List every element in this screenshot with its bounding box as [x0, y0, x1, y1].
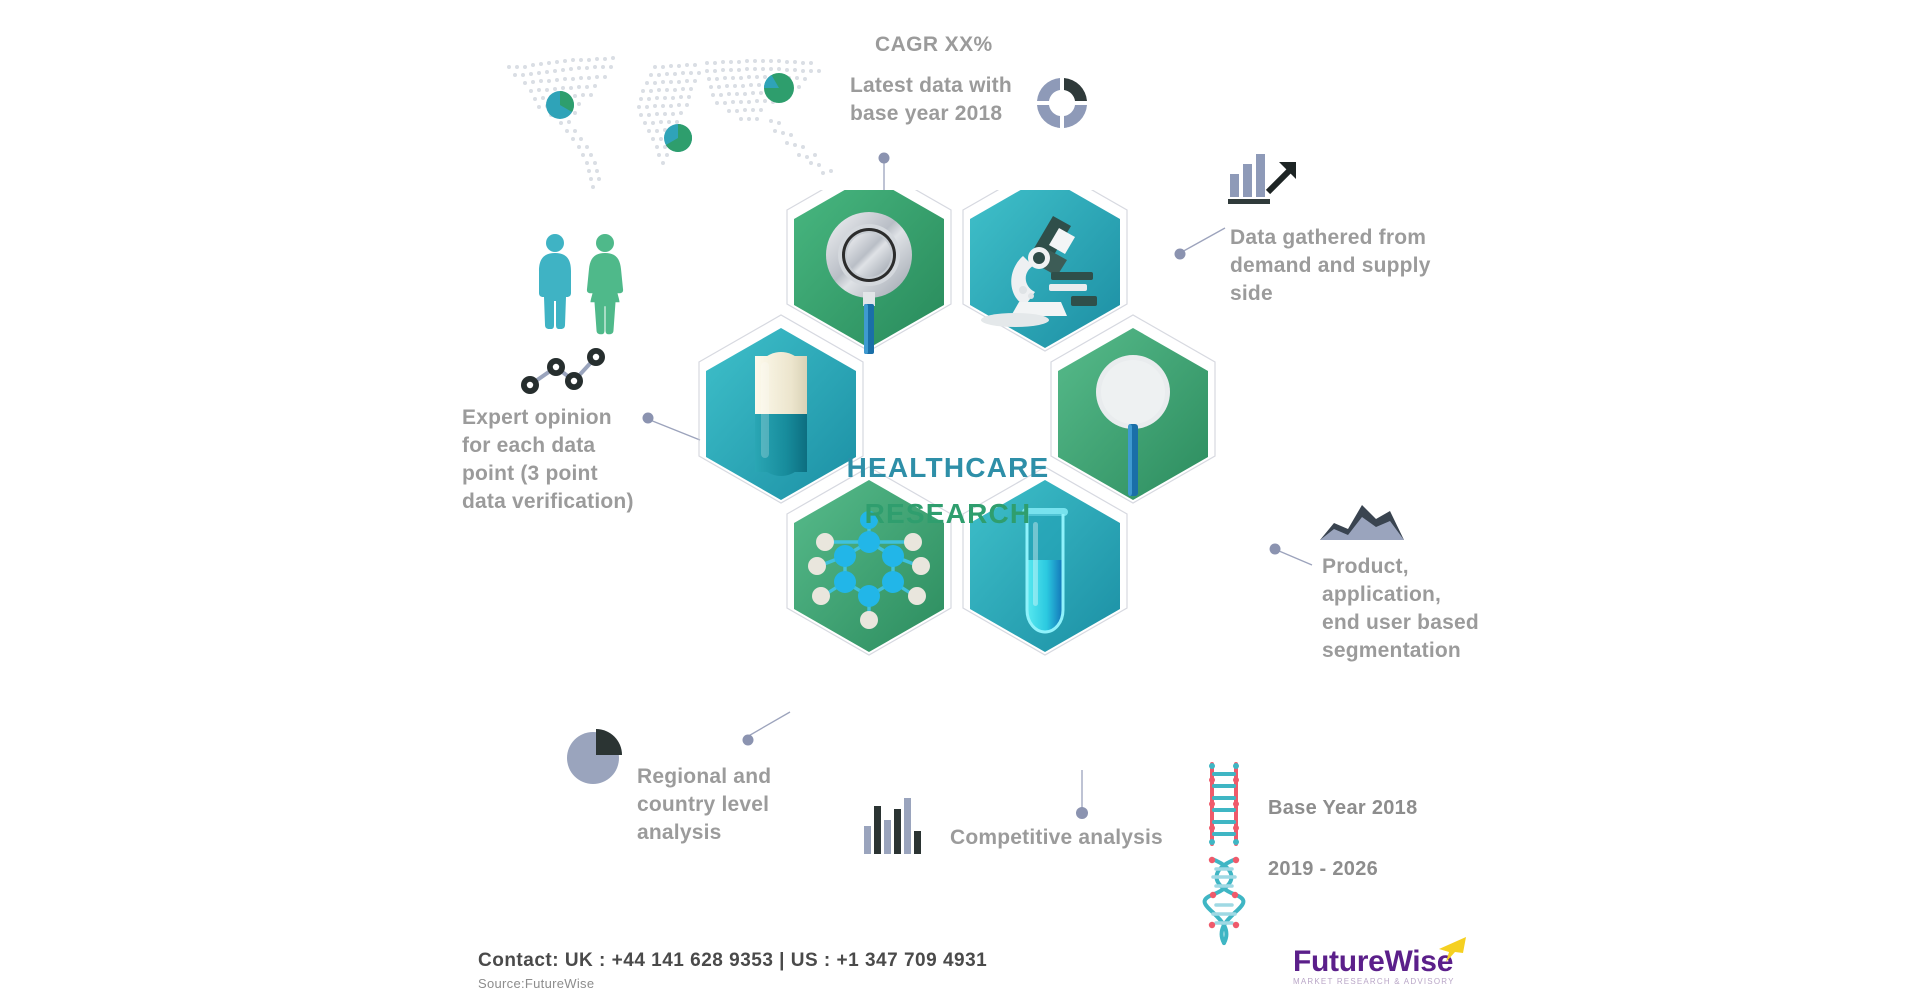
- footer-contact-block: Contact: UK : +44 141 628 9353 | US : +1…: [478, 950, 987, 991]
- area-chart-icon: [1318, 495, 1408, 545]
- expert-opinion-line4: data verification): [462, 488, 692, 516]
- segmentation-line3: end user based: [1322, 609, 1582, 637]
- expert-opinion-line3: point (3 point: [462, 460, 692, 488]
- segmentation-callout: Product, application, end user based seg…: [1322, 553, 1582, 665]
- contact-line: Contact: UK : +44 141 628 9353 | US : +1…: [478, 950, 987, 972]
- source-line: Source:FutureWise: [478, 976, 987, 991]
- center-title-line1: HEALTHCARE: [838, 445, 1058, 491]
- hexagon-microscope: [970, 190, 1120, 348]
- latest-data-line2: base year 2018: [850, 100, 1060, 128]
- center-title-line2: RESEARCH: [838, 491, 1058, 537]
- pie-chart-icon: [565, 727, 627, 789]
- donut-chart-icon: [1032, 73, 1092, 133]
- hexagon-stethoscope: [794, 190, 944, 354]
- population-figures-icon: [528, 232, 648, 342]
- latest-data-callout: Latest data with base year 2018: [850, 72, 1060, 128]
- bar-chart-icon: [862, 794, 930, 856]
- line-chart-icon: [518, 345, 608, 395]
- regional-line3: analysis: [637, 819, 877, 847]
- dna-helix-icon: [1202, 855, 1248, 947]
- base-year-label: Base Year 2018: [1268, 797, 1418, 820]
- logo-arrow-icon: [1435, 935, 1469, 965]
- segmentation-line1: Product,: [1322, 553, 1582, 581]
- forecast-period-label: 2019 - 2026: [1268, 858, 1378, 881]
- hexagon-capsule: [706, 328, 856, 500]
- expert-opinion-line2: for each data: [462, 432, 692, 460]
- center-title: HEALTHCARE RESEARCH: [838, 445, 1058, 537]
- regional-line2: country level: [637, 791, 877, 819]
- segmentation-line4: segmentation: [1322, 637, 1582, 665]
- male-figure-icon: [539, 234, 571, 329]
- infographic-canvas: CAGR XX% Latest data with base year 2018…: [0, 0, 1920, 1004]
- expert-opinion-line1: Expert opinion: [462, 404, 692, 432]
- hexagon-magnifier: [1058, 328, 1208, 500]
- segmentation-line2: application,: [1322, 581, 1582, 609]
- expert-opinion-callout: Expert opinion for each data point (3 po…: [462, 404, 692, 516]
- latest-data-line1: Latest data with: [850, 72, 1060, 100]
- logo-text: FutureWise: [1293, 945, 1453, 978]
- futurewise-logo[interactable]: FutureWise MARKET RESEARCH & ADVISORY: [1293, 945, 1455, 986]
- cagr-label: CAGR XX%: [875, 33, 993, 57]
- map-markers: [546, 73, 794, 152]
- female-figure-icon: [587, 234, 623, 334]
- dotted-world-map: [495, 35, 845, 195]
